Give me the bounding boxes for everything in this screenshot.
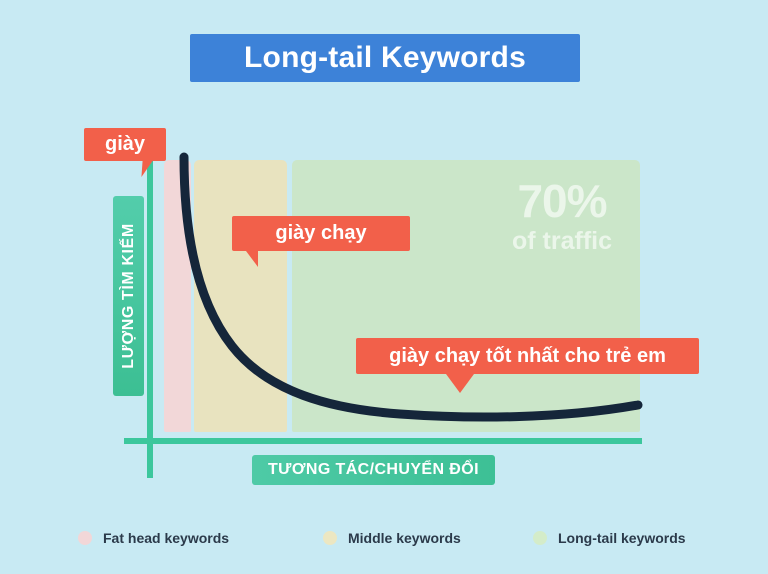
callout-long-tail-text: giày chạy tốt nhất cho trẻ em [389, 345, 666, 368]
traffic-share-watermark: 70% of traffic [487, 178, 637, 256]
band-middle-keywords [194, 160, 287, 432]
x-axis-label: TƯƠNG TÁC/CHUYỂN ĐỔI [268, 461, 479, 479]
callout-pointer-icon [446, 374, 474, 393]
legend-swatch-icon [533, 531, 547, 545]
callout-long-tail-keyword: giày chạy tốt nhất cho trẻ em [356, 338, 699, 374]
legend-swatch-icon [78, 531, 92, 545]
legend-label-long-tail-keywords: Long-tail keywords [558, 530, 686, 546]
x-axis-line [124, 438, 642, 444]
callout-pointer-icon [238, 251, 258, 267]
callout-fat-head-keyword: giày [84, 128, 166, 161]
long-tail-curve [0, 0, 768, 574]
callout-middle-text: giày chạy [275, 222, 366, 245]
y-axis-label-chip: LƯỢNG TÌM KIẾM [113, 196, 144, 396]
chart-legend: Fat head keywords Middle keywords Long-t… [78, 530, 698, 546]
y-axis-label: LƯỢNG TÌM KIẾM [120, 223, 138, 369]
callout-middle-keyword: giày chạy [232, 216, 410, 251]
legend-label-middle-keywords: Middle keywords [348, 530, 461, 546]
chart-plot-area: 70% of traffic LƯỢNG TÌM KIẾM TƯƠNG TÁC/… [0, 0, 768, 574]
page-title-banner: Long-tail Keywords [190, 34, 580, 82]
legend-item-middle-keywords: Middle keywords [323, 530, 533, 546]
y-axis-line [147, 152, 153, 478]
page-title: Long-tail Keywords [244, 41, 526, 75]
legend-label-fat-head-keywords: Fat head keywords [103, 530, 229, 546]
legend-item-long-tail-keywords: Long-tail keywords [533, 530, 686, 546]
infographic-canvas: Long-tail Keywords 70% of traffic LƯỢNG … [0, 0, 768, 574]
callout-pointer-icon [141, 161, 162, 177]
traffic-share-value: 70% [487, 178, 637, 224]
callout-fat-head-text: giày [105, 133, 145, 156]
x-axis-label-chip: TƯƠNG TÁC/CHUYỂN ĐỔI [252, 455, 495, 485]
legend-item-fat-head-keywords: Fat head keywords [78, 530, 323, 546]
legend-swatch-icon [323, 531, 337, 545]
traffic-share-caption: of traffic [487, 227, 637, 256]
search-volume-curve-path [184, 157, 638, 417]
band-fat-head-keywords [164, 160, 191, 432]
